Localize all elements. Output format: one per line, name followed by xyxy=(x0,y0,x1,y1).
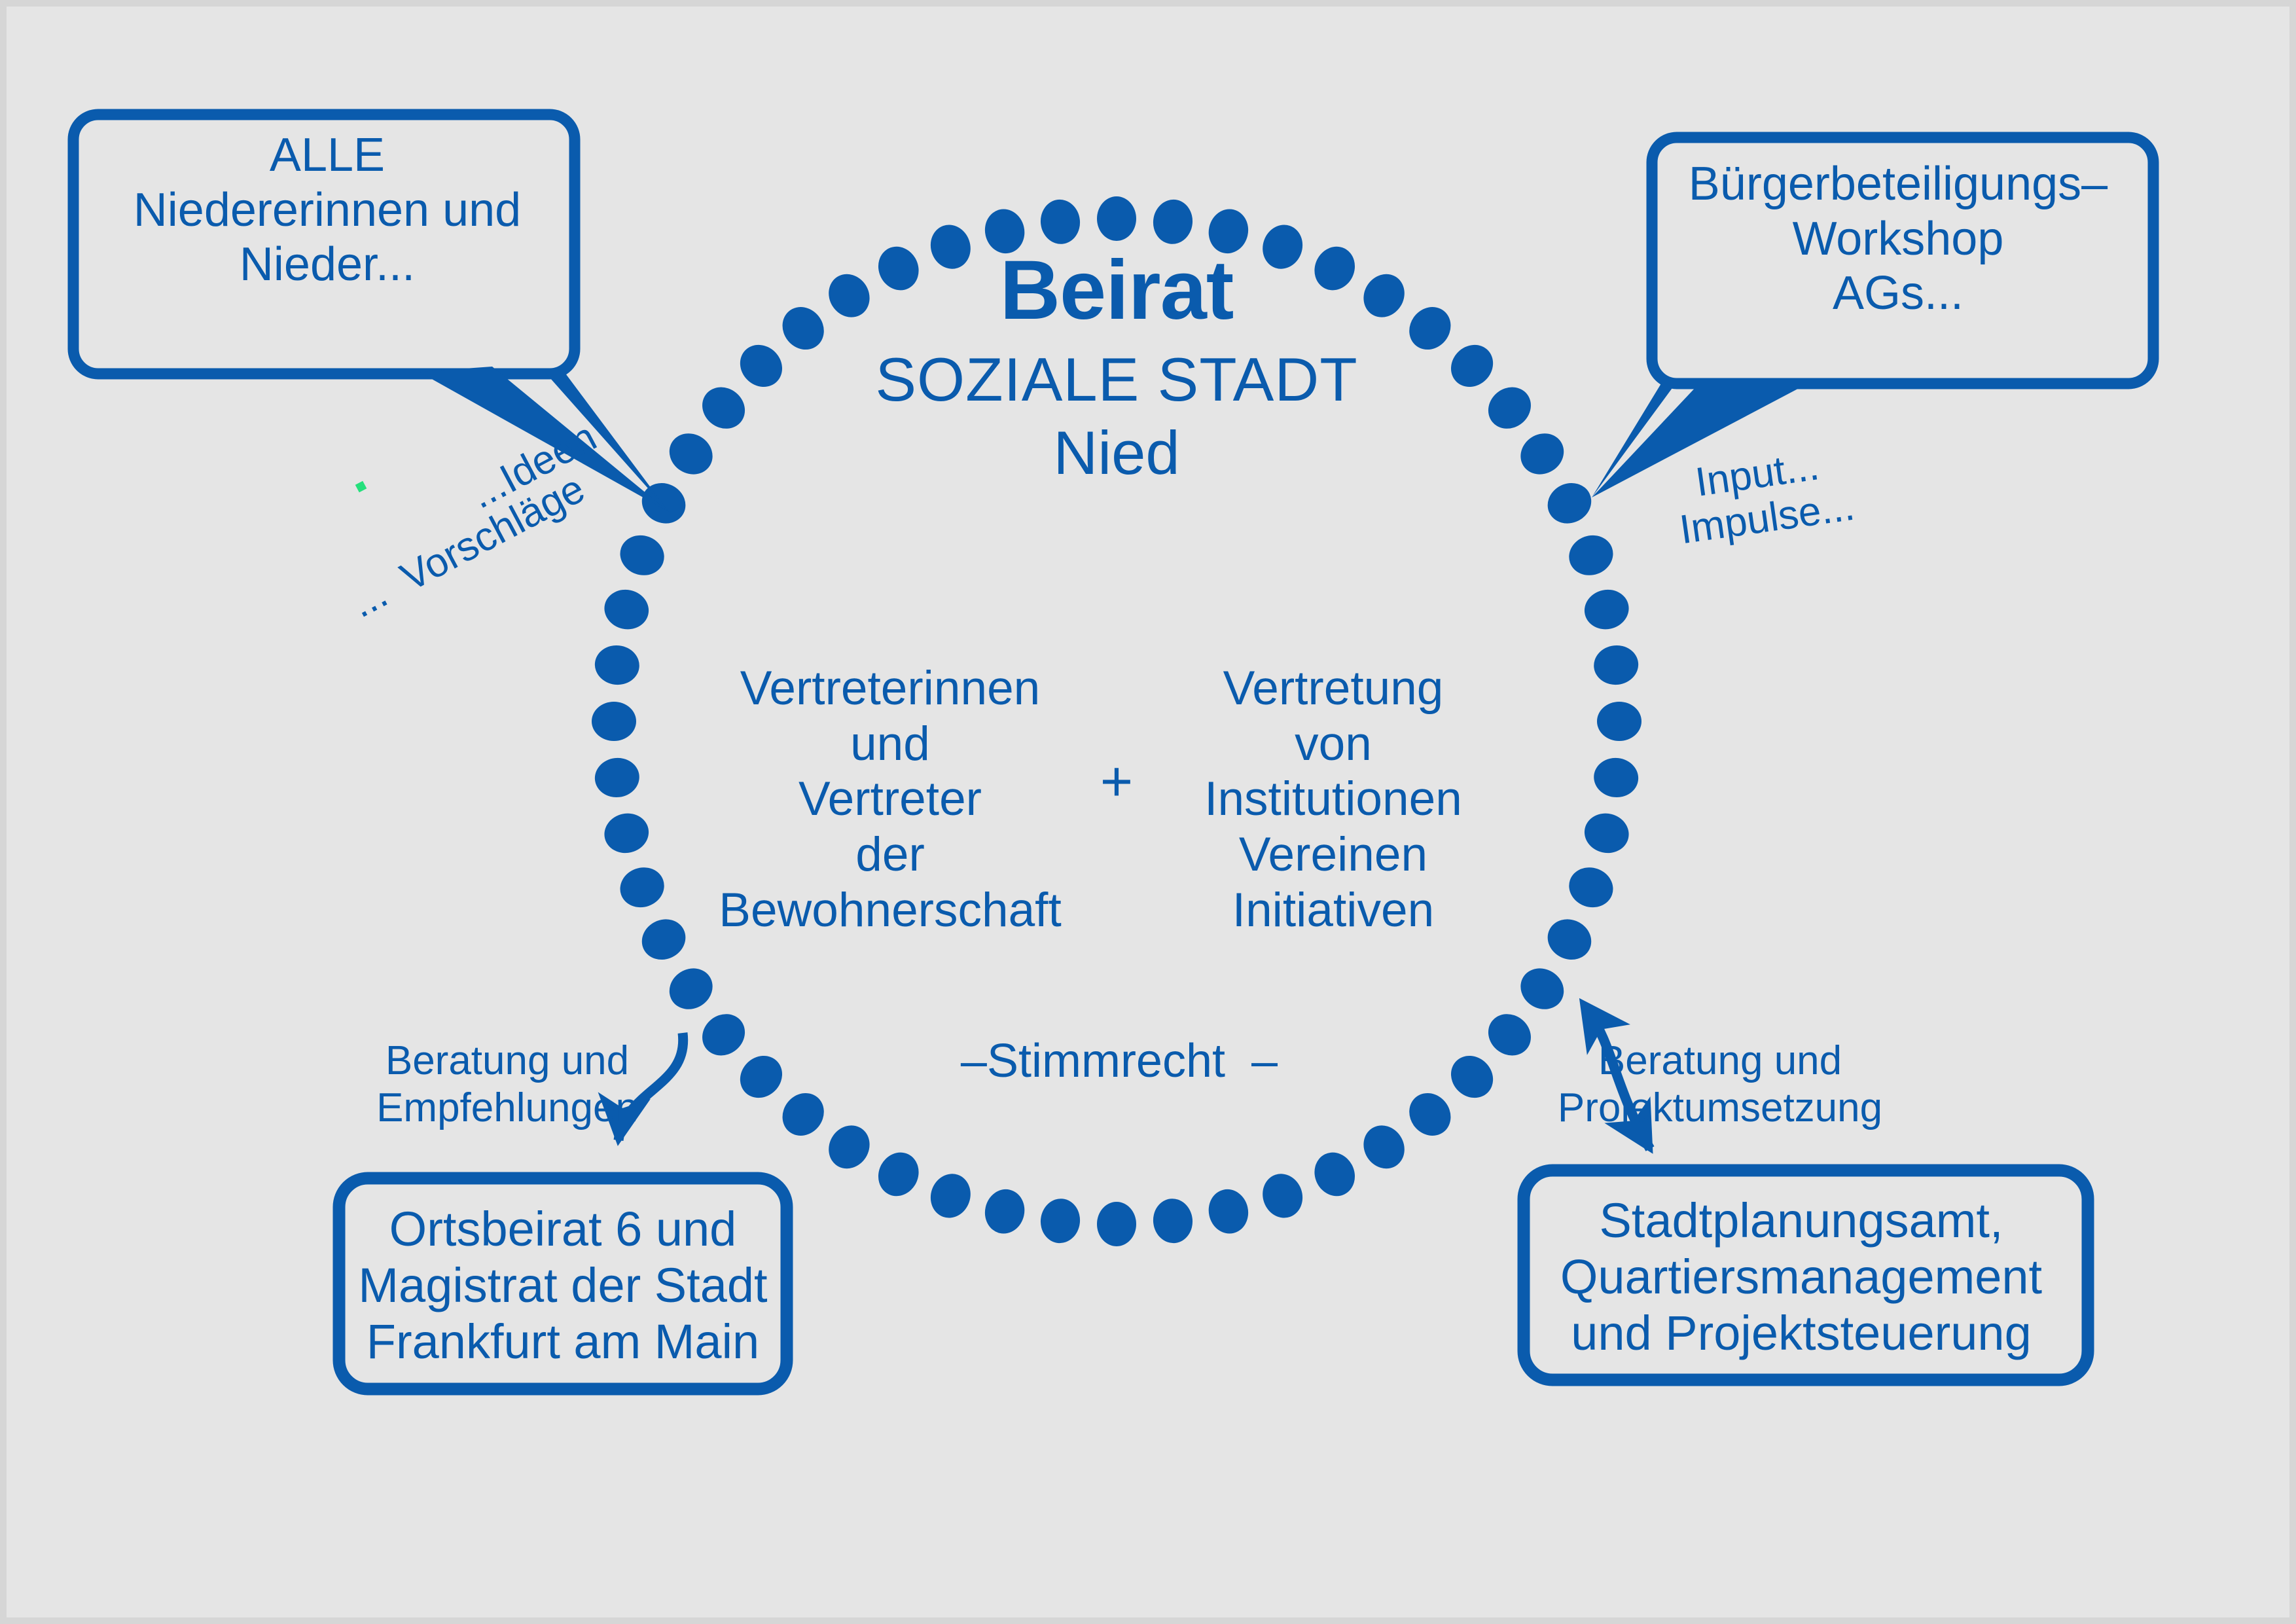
ring-dot xyxy=(1038,198,1082,246)
ring-dot xyxy=(1307,240,1362,297)
ring-dot xyxy=(635,912,692,967)
bubble-top-right-label: Bürgerbeteiligungs– Workshop AGs... xyxy=(1689,157,2108,321)
ring-dot xyxy=(615,530,670,581)
ring-dot xyxy=(1355,266,1412,325)
ring-dot xyxy=(774,298,833,358)
ring-dot xyxy=(1204,1185,1253,1238)
ring-dot xyxy=(732,336,791,396)
ring-dot xyxy=(1564,530,1619,581)
ring-dot xyxy=(1592,755,1640,799)
location-label: Nied xyxy=(1053,417,1179,488)
ring-dot xyxy=(1097,1202,1136,1246)
ring-dot xyxy=(1257,1168,1308,1223)
ring-dot xyxy=(925,1168,977,1223)
ring-dot xyxy=(1257,219,1308,274)
subtitle: SOZIALE STADT xyxy=(875,344,1357,415)
ring-dot xyxy=(1097,196,1136,241)
ring-dot xyxy=(615,861,670,913)
ring-dot xyxy=(1564,861,1619,913)
ring-dot xyxy=(1307,1146,1362,1202)
plus-icon: + xyxy=(1100,749,1133,815)
ring-dot xyxy=(1592,643,1640,687)
ring-dot xyxy=(980,1185,1029,1238)
ring-dot xyxy=(1151,198,1194,246)
ring-dot xyxy=(1443,1047,1502,1107)
page-title: Beirat xyxy=(1000,242,1234,339)
bubble-top-left-label: ALLE Niedererinnen und Nieder... xyxy=(134,128,521,293)
ring-dot xyxy=(821,1118,878,1176)
ring-dot xyxy=(821,266,878,325)
ring-dot xyxy=(662,425,720,482)
ring-dot xyxy=(1541,476,1598,531)
ring-dot xyxy=(694,379,753,437)
members-residents-column: Vertreterinnen und Vertreter der Bewohne… xyxy=(719,661,1061,938)
ring-dot xyxy=(925,219,977,274)
ring-dot xyxy=(1513,425,1571,482)
ring-dot xyxy=(1401,1085,1459,1144)
ring-dot xyxy=(732,1047,791,1107)
members-institutions-column: Vertretung von Institutionen Vereinen In… xyxy=(1204,661,1462,938)
ring-dot xyxy=(1597,702,1641,741)
ring-dot xyxy=(871,240,926,297)
ring-dot xyxy=(1480,1005,1539,1064)
diagram-canvas: Beirat SOZIALE STADT Nied Vertreterinnen… xyxy=(0,0,2296,1624)
ring-dot xyxy=(1480,379,1539,437)
ring-dot xyxy=(662,960,720,1017)
ring-dot xyxy=(774,1085,833,1144)
ring-dot xyxy=(1581,809,1633,857)
ring-dot xyxy=(1513,960,1571,1017)
ring-dot xyxy=(1541,912,1598,967)
box-bottom-right-label: Stadtplanungsamt, Quartiersmanagement un… xyxy=(1560,1193,2042,1361)
ring-dot xyxy=(1038,1197,1082,1245)
ring-dot xyxy=(600,809,653,857)
ring-dot xyxy=(593,755,641,799)
voting-right-note: –Stimmrecht – xyxy=(961,1034,1278,1089)
ring-dot xyxy=(635,476,692,531)
ring-dot xyxy=(1355,1118,1412,1176)
ring-dot xyxy=(1581,585,1633,634)
ring-dot xyxy=(694,1005,753,1064)
annotation-beratung-empfehlungen: Beratung und Empfehlungen xyxy=(376,1038,638,1132)
ring-dot xyxy=(1151,1197,1194,1245)
ring-dot xyxy=(1443,336,1502,396)
ring-dot xyxy=(592,702,636,741)
annotation-beratung-projektumsetzung: Beratung und Projektumsetzung xyxy=(1558,1038,1882,1132)
ring-dot xyxy=(600,585,653,634)
ring-dot xyxy=(871,1146,926,1202)
box-bottom-left-label: Ortsbeirat 6 und Magistrat der Stadt Fra… xyxy=(358,1201,767,1369)
ring-dot xyxy=(593,643,641,687)
ring-dot xyxy=(1401,298,1459,358)
